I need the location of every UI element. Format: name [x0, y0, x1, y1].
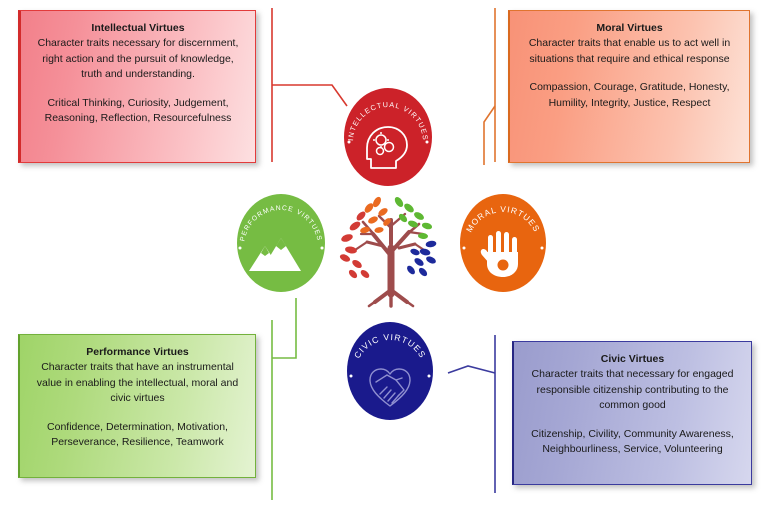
performance-virtues-circle[interactable]: PERFORMANCE VIRTUES — [229, 192, 333, 294]
civic-virtues-description: Character traits that necessary for enga… — [526, 367, 739, 414]
intellectual-virtues-box: Intellectual Virtues Character traits ne… — [18, 10, 256, 163]
civic-virtues-list: Citizenship, Civility, Community Awarene… — [526, 427, 739, 458]
civic-virtues-box: Civic Virtues Character traits that nece… — [512, 341, 752, 485]
moral-virtues-list: Compassion, Courage, Gratitude, Honesty,… — [522, 80, 737, 111]
tree-icon — [327, 186, 455, 314]
moral-virtues-box: Moral Virtues Character traits that enab… — [508, 10, 750, 163]
moral-virtues-circle[interactable]: MORAL VIRTUES — [453, 192, 553, 294]
civic-virtues-title: Civic Virtues — [526, 352, 739, 367]
intellectual-virtues-list: Critical Thinking, Curiosity, Judgement,… — [33, 96, 243, 127]
moral-virtues-description: Character traits that enable us to act w… — [522, 36, 737, 67]
intellectual-virtues-circle[interactable]: INTELLECTUAL VIRTUES — [337, 86, 439, 188]
tree-leaves-red — [339, 210, 371, 280]
moral-virtues-title: Moral Virtues — [522, 21, 737, 36]
intellectual-virtues-description: Character traits necessary for discernme… — [33, 36, 243, 83]
performance-virtues-title: Performance Virtues — [32, 345, 243, 360]
civic-virtues-circle[interactable]: CIVIC VIRTUES — [340, 320, 440, 422]
diagram-canvas: Intellectual Virtues Character traits ne… — [0, 0, 768, 509]
performance-virtues-box: Performance Virtues Character traits tha… — [18, 334, 256, 478]
performance-virtues-list: Confidence, Determination, Motivation, P… — [32, 420, 243, 451]
intellectual-virtues-title: Intellectual Virtues — [33, 21, 243, 36]
performance-virtues-description: Character traits that have an instrument… — [32, 360, 243, 407]
